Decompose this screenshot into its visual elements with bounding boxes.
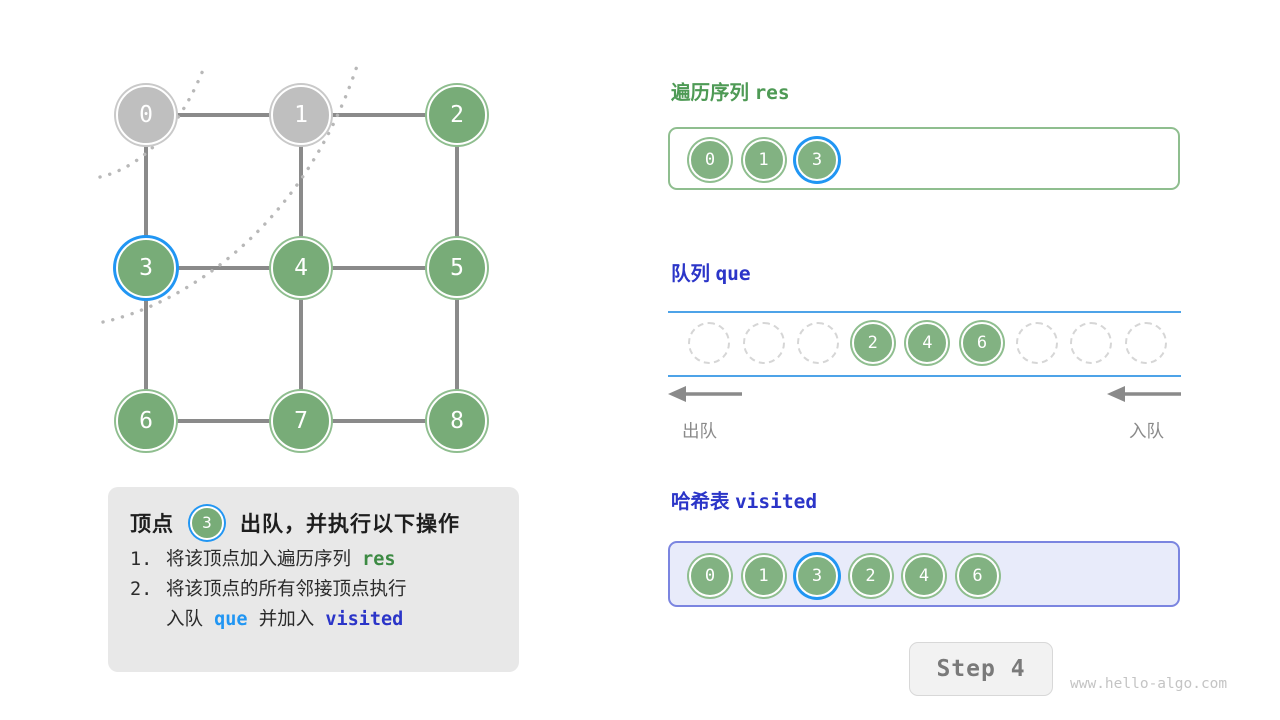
queue-slot-2[interactable] [797, 322, 839, 364]
visited-cell-2[interactable]: 3 [796, 555, 838, 597]
queue-title-code: que [715, 262, 750, 285]
caption-step-1-keyword-res: res [362, 545, 395, 575]
enqueue-label: 入队 [1129, 418, 1164, 443]
queue-slot-6[interactable] [1016, 322, 1058, 364]
dequeue-label: 出队 [682, 418, 717, 443]
visited-title-cn: 哈希表 [671, 491, 730, 513]
graph-node-7[interactable]: 7 [271, 391, 331, 451]
graph-node-8[interactable]: 8 [427, 391, 487, 451]
visited-cell-5[interactable]: 6 [957, 555, 999, 597]
graph-node-2[interactable]: 2 [427, 85, 487, 145]
caption-step-2-number: 2. [130, 575, 166, 605]
step-badge: Step 4 [909, 642, 1053, 696]
res-section-title: 遍历序列 res [671, 76, 790, 105]
illustration-canvas: 012345678 顶点 3 出队，并执行以下操作 1. 将该顶点加入遍历序列 … [0, 0, 1280, 720]
caption-suffix-text: 出队，并执行以下操作 [240, 508, 460, 538]
visited-cell-0[interactable]: 0 [689, 555, 731, 597]
caption-step-2-line2-text-middle: 并加入 [248, 605, 326, 635]
caption-step-1-text: 将该顶点加入遍历序列 [166, 545, 362, 575]
caption-step-1: 1. 将该顶点加入遍历序列 res [130, 545, 499, 575]
visited-title-code: visited [735, 490, 817, 513]
res-cell-2[interactable]: 3 [796, 139, 838, 181]
res-array-container: 013 [668, 127, 1180, 190]
graph-node-5[interactable]: 5 [427, 238, 487, 298]
queue-section-title: 队列 que [671, 257, 751, 286]
step-description-panel: 顶点 3 出队，并执行以下操作 1. 将该顶点加入遍历序列 res 2. 将该顶… [108, 487, 519, 672]
visited-cell-1[interactable]: 1 [743, 555, 785, 597]
caption-step-1-number: 1. [130, 545, 166, 575]
queue-slot-0[interactable] [688, 322, 730, 364]
caption-vertex-value: 3 [190, 506, 224, 540]
watermark: www.hello-algo.com [1070, 676, 1227, 692]
caption-step-2-text: 将该顶点的所有邻接顶点执行 [166, 575, 407, 605]
queue-slot-3[interactable]: 2 [852, 322, 894, 364]
queue-slot-5[interactable]: 6 [961, 322, 1003, 364]
graph-node-1[interactable]: 1 [271, 85, 331, 145]
caption-step-2-keyword-que: que [214, 605, 247, 635]
caption-prefix-text: 顶点 [130, 508, 174, 538]
res-title-cn: 遍历序列 [671, 82, 749, 104]
graph-node-0[interactable]: 0 [116, 85, 176, 145]
caption-step-2-line2-text-before: 入队 [130, 605, 214, 635]
queue-rail-top [668, 311, 1181, 313]
queue-slot-4[interactable]: 4 [906, 322, 948, 364]
visited-section-title: 哈希表 visited [671, 485, 817, 514]
queue-slot-8[interactable] [1125, 322, 1167, 364]
res-title-code: res [754, 81, 789, 104]
caption-headline: 顶点 3 出队，并执行以下操作 [130, 501, 499, 545]
queue-title-cn: 队列 [671, 263, 710, 285]
graph-node-4[interactable]: 4 [271, 238, 331, 298]
enqueue-arrow [1107, 386, 1181, 402]
caption-step-2-continuation: 入队 que 并加入 visited [130, 605, 499, 635]
res-cell-1[interactable]: 1 [743, 139, 785, 181]
queue-slot-7[interactable] [1070, 322, 1112, 364]
graph-node-3[interactable]: 3 [116, 238, 176, 298]
caption-step-2-keyword-visited: visited [325, 605, 403, 635]
caption-step-2: 2. 将该顶点的所有邻接顶点执行 [130, 575, 499, 605]
caption-vertex-chip: 3 [188, 504, 226, 542]
visited-set-container: 013246 [668, 541, 1180, 607]
graph-node-6[interactable]: 6 [116, 391, 176, 451]
visited-cell-3[interactable]: 2 [850, 555, 892, 597]
queue-slot-1[interactable] [743, 322, 785, 364]
queue-rail-bottom [668, 375, 1181, 377]
caption-steps-list: 1. 将该顶点加入遍历序列 res 2. 将该顶点的所有邻接顶点执行 入队 qu… [130, 545, 499, 635]
dequeue-arrow [668, 386, 742, 402]
res-cell-0[interactable]: 0 [689, 139, 731, 181]
visited-cell-4[interactable]: 4 [903, 555, 945, 597]
